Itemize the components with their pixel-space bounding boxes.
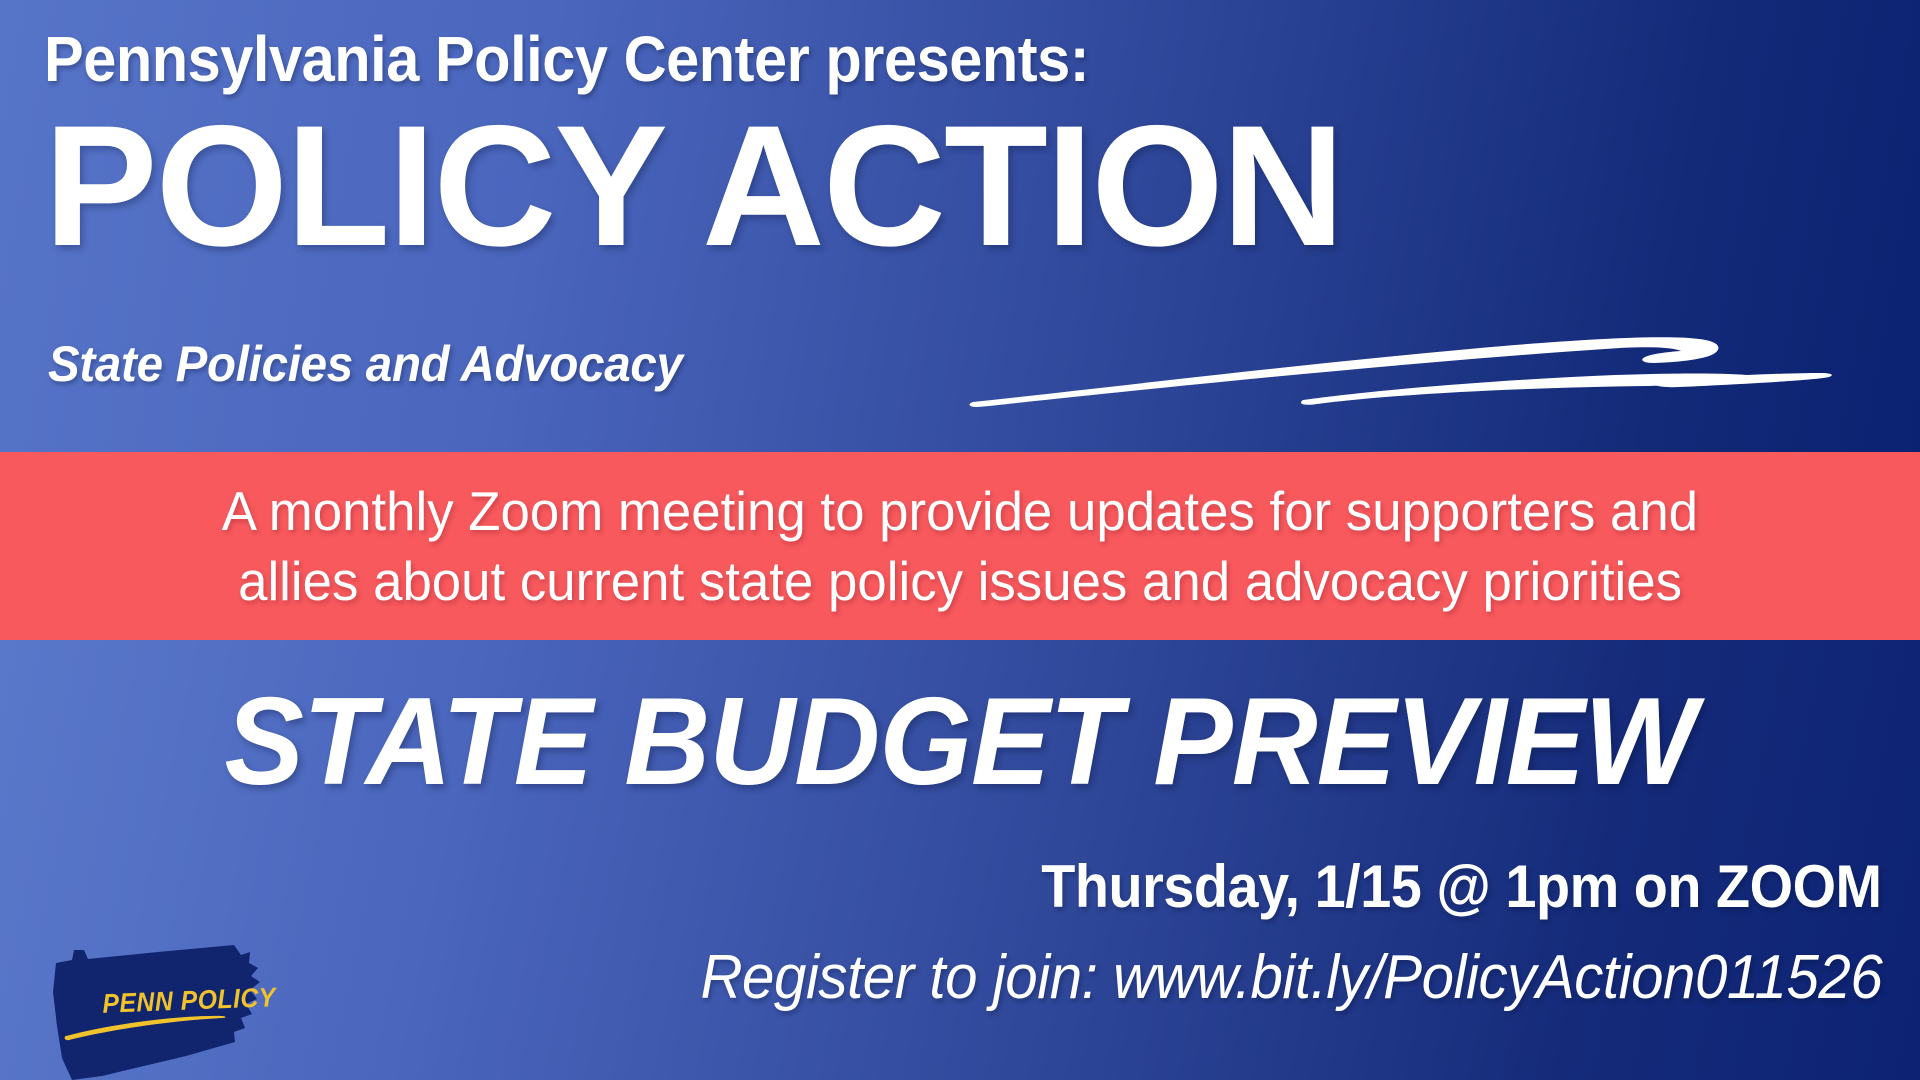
brush-swoosh-underline-icon bbox=[955, 318, 1835, 414]
logo-wordmark: PENN POLICY bbox=[102, 983, 250, 1020]
promo-flyer: Pennsylvania Policy Center presents: POL… bbox=[0, 0, 1920, 1080]
event-headline: STATE BUDGET PREVIEW bbox=[38, 680, 1881, 804]
registration-link[interactable]: Register to join: www.bit.ly/PolicyActio… bbox=[700, 942, 1882, 1013]
description-banner: A monthly Zoom meeting to provide update… bbox=[0, 452, 1920, 640]
banner-line-2: allies about current state policy issues… bbox=[238, 546, 1682, 616]
penn-policy-logo[interactable]: PENN POLICY bbox=[36, 930, 286, 1080]
program-subtitle: State Policies and Advocacy bbox=[48, 335, 683, 393]
presenter-line: Pennsylvania Policy Center presents: bbox=[44, 22, 1089, 96]
event-datetime: Thursday, 1/15 @ 1pm on ZOOM bbox=[1042, 852, 1882, 921]
event-panel: STATE BUDGET PREVIEW Thursday, 1/15 @ 1p… bbox=[0, 640, 1920, 1080]
program-title: POLICY ACTION bbox=[44, 100, 1343, 272]
banner-line-1: A monthly Zoom meeting to provide update… bbox=[222, 476, 1698, 546]
header-panel: Pennsylvania Policy Center presents: POL… bbox=[0, 0, 1920, 452]
